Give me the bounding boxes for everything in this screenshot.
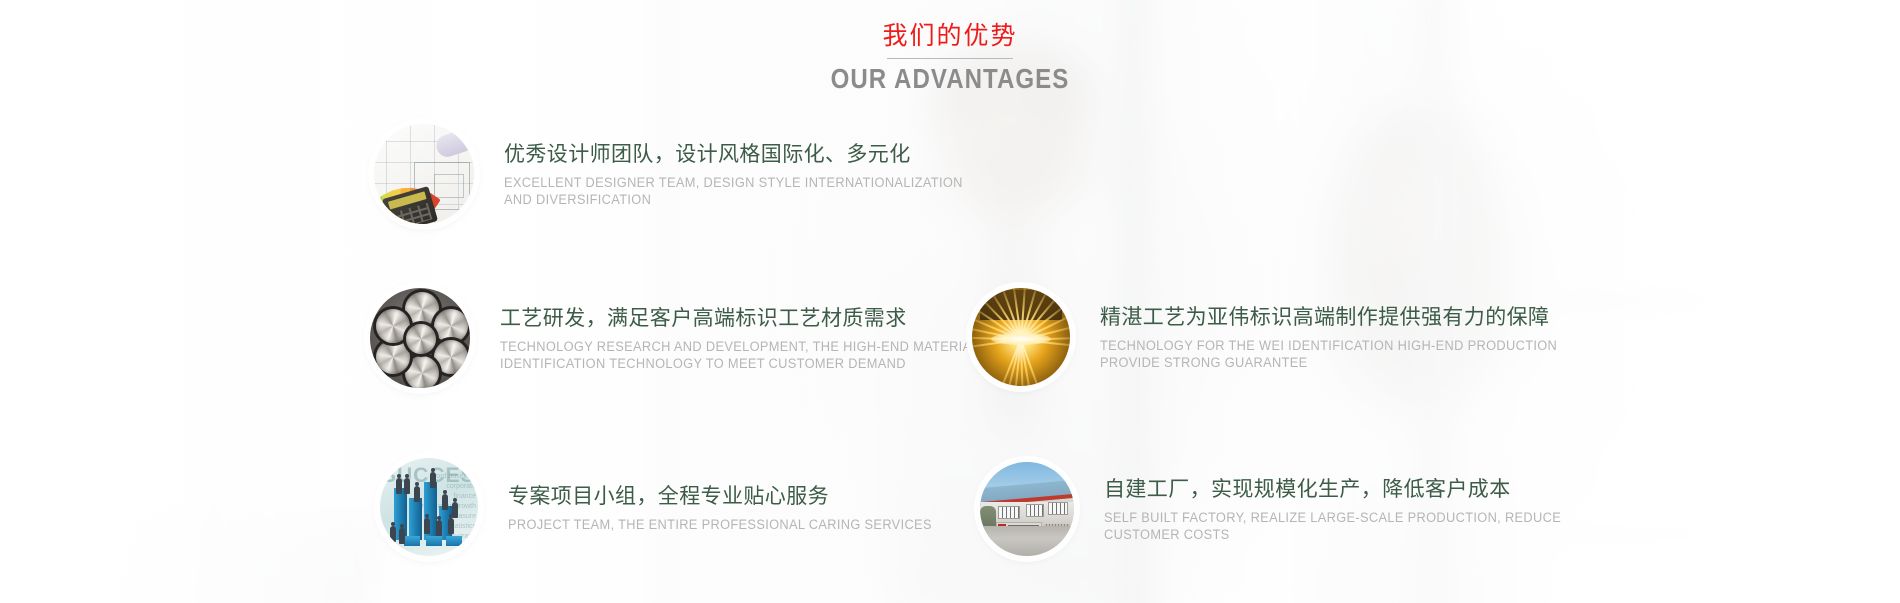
section-title-cn: 我们的优势 bbox=[0, 20, 1900, 52]
welding-sparks-thumbnail[interactable] bbox=[972, 288, 1070, 386]
advantage-title-cn: 专案项目小组，全程专业贴心服务 bbox=[508, 482, 954, 510]
advantage-title-cn: 工艺研发，满足客户高端标识工艺材质需求 bbox=[500, 304, 1004, 332]
advantage-copy: 优秀设计师团队，设计风格国际化、多元化 EXCELLENT DESIGNER T… bbox=[474, 140, 987, 208]
advantage-item-own-factory[interactable]: 自建工厂，实现规模化生产，降低客户成本 SELF BUILT FACTORY, … bbox=[980, 462, 1780, 556]
advantage-title-cn: 精湛工艺为亚伟标识高端制作提供强有力的保障 bbox=[1100, 303, 1581, 331]
color-swatch-blueprint-thumbnail[interactable] bbox=[374, 124, 474, 224]
section-title-en: OUR ADVANTAGES bbox=[133, 63, 1767, 95]
advantage-copy: 工艺研发，满足客户高端标识工艺材质需求 TECHNOLOGY RESEARCH … bbox=[470, 304, 1004, 372]
advantage-copy: 精湛工艺为亚伟标识高端制作提供强有力的保障 TECHNOLOGY FOR THE… bbox=[1070, 303, 1581, 371]
metal-pipes-thumbnail[interactable] bbox=[370, 288, 470, 388]
advantages-section: 我们的优势 OUR ADVANTAGES bbox=[0, 0, 1900, 603]
advantage-copy: 自建工厂，实现规模化生产，降低客户成本 SELF BUILT FACTORY, … bbox=[1074, 475, 1585, 543]
advantage-copy: 专案项目小组，全程专业贴心服务 PROJECT TEAM, THE ENTIRE… bbox=[478, 482, 954, 533]
advantage-item-designer-team[interactable]: 优秀设计师团队，设计风格国际化、多元化 EXCELLENT DESIGNER T… bbox=[374, 124, 1174, 224]
advantage-title-en: PROJECT TEAM, THE ENTIRE PROFESSIONAL CA… bbox=[508, 516, 932, 533]
advantage-title-en: SELF BUILT FACTORY, REALIZE LARGE-SCALE … bbox=[1104, 509, 1561, 543]
advantage-title-en: TECHNOLOGY RESEARCH AND DEVELOPMENT, THE… bbox=[500, 338, 979, 372]
advantage-title-en: TECHNOLOGY FOR THE WEI IDENTIFICATION HI… bbox=[1100, 337, 1557, 371]
advantage-item-craftsmanship-guarantee[interactable]: 精湛工艺为亚伟标识高端制作提供强有力的保障 TECHNOLOGY FOR THE… bbox=[972, 288, 1772, 386]
business-growth-chart-thumbnail[interactable]: SUCCESS word business corporate finance … bbox=[380, 458, 478, 556]
advantage-title-en: EXCELLENT DESIGNER TEAM, DESIGN STYLE IN… bbox=[504, 174, 963, 208]
advantage-title-cn: 优秀设计师团队，设计风格国际化、多元化 bbox=[504, 140, 987, 168]
factory-building-thumbnail[interactable] bbox=[980, 462, 1074, 556]
advantage-title-cn: 自建工厂，实现规模化生产，降低客户成本 bbox=[1104, 475, 1585, 503]
title-divider bbox=[887, 58, 1013, 59]
section-header: 我们的优势 OUR ADVANTAGES bbox=[0, 20, 1900, 95]
